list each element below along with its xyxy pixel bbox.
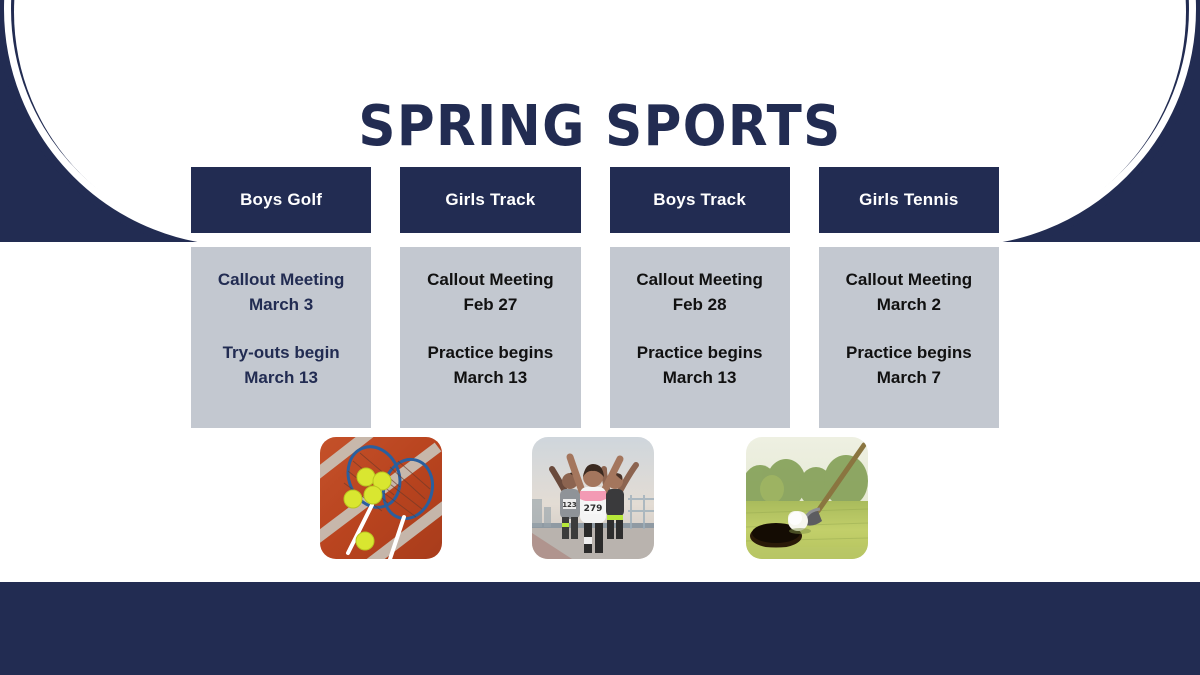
bib-number-center: 279 <box>584 504 603 514</box>
footer-bar <box>0 582 1200 675</box>
bib-number-left: 123 <box>562 501 577 509</box>
start-date: March 13 <box>663 368 737 387</box>
column-body-girls-track: Callout Meeting Feb 27 Practice begins M… <box>400 247 580 428</box>
callout-block-girls-track: Callout Meeting Feb 27 <box>400 267 580 317</box>
sport-column-girls-tennis: Girls Tennis Callout Meeting March 2 Pra… <box>819 167 999 428</box>
column-header-girls-track: Girls Track <box>400 167 580 233</box>
callout-date: Feb 28 <box>673 295 727 314</box>
callout-block-boys-golf: Callout Meeting March 3 <box>191 267 371 317</box>
callout-label: Callout Meeting <box>427 270 554 289</box>
page-title: Spring Sports <box>48 96 1152 158</box>
callout-label: Callout Meeting <box>636 270 763 289</box>
start-label: Practice begins <box>637 343 763 362</box>
callout-date: Feb 27 <box>463 295 517 314</box>
sport-column-boys-golf: Boys Golf Callout Meeting March 3 Try-ou… <box>191 167 371 428</box>
start-block-boys-golf: Try-outs begin March 13 <box>191 340 371 390</box>
start-label: Try-outs begin <box>223 343 340 362</box>
sports-table: Boys Golf Callout Meeting March 3 Try-ou… <box>191 167 999 428</box>
start-block-girls-tennis: Practice begins March 7 <box>819 340 999 390</box>
golf-photo <box>746 437 868 559</box>
callout-label: Callout Meeting <box>218 270 345 289</box>
callout-block-boys-track: Callout Meeting Feb 28 <box>610 267 790 317</box>
callout-block-girls-tennis: Callout Meeting March 2 <box>819 267 999 317</box>
column-header-girls-tennis: Girls Tennis <box>819 167 999 233</box>
column-header-boys-track: Boys Track <box>610 167 790 233</box>
column-body-boys-track: Callout Meeting Feb 28 Practice begins M… <box>610 247 790 428</box>
callout-date: March 2 <box>877 295 941 314</box>
tennis-photo <box>320 437 442 559</box>
sport-column-boys-track: Boys Track Callout Meeting Feb 28 Practi… <box>610 167 790 428</box>
start-date: March 13 <box>454 368 528 387</box>
start-label: Practice begins <box>428 343 554 362</box>
photo-row: 123 <box>0 437 1200 565</box>
track-photo: 123 <box>532 437 654 559</box>
start-date: March 7 <box>877 368 941 387</box>
start-block-girls-track: Practice begins March 13 <box>400 340 580 390</box>
start-block-boys-track: Practice begins March 13 <box>610 340 790 390</box>
sport-column-girls-track: Girls Track Callout Meeting Feb 27 Pract… <box>400 167 580 428</box>
column-header-boys-golf: Boys Golf <box>191 167 371 233</box>
callout-date: March 3 <box>249 295 313 314</box>
callout-label: Callout Meeting <box>846 270 973 289</box>
column-body-boys-golf: Callout Meeting March 3 Try-outs begin M… <box>191 247 371 428</box>
start-date: March 13 <box>244 368 318 387</box>
slide-canvas: Spring Sports Boys Golf Callout Meeting … <box>0 0 1200 675</box>
column-body-girls-tennis: Callout Meeting March 2 Practice begins … <box>819 247 999 428</box>
start-label: Practice begins <box>846 343 972 362</box>
